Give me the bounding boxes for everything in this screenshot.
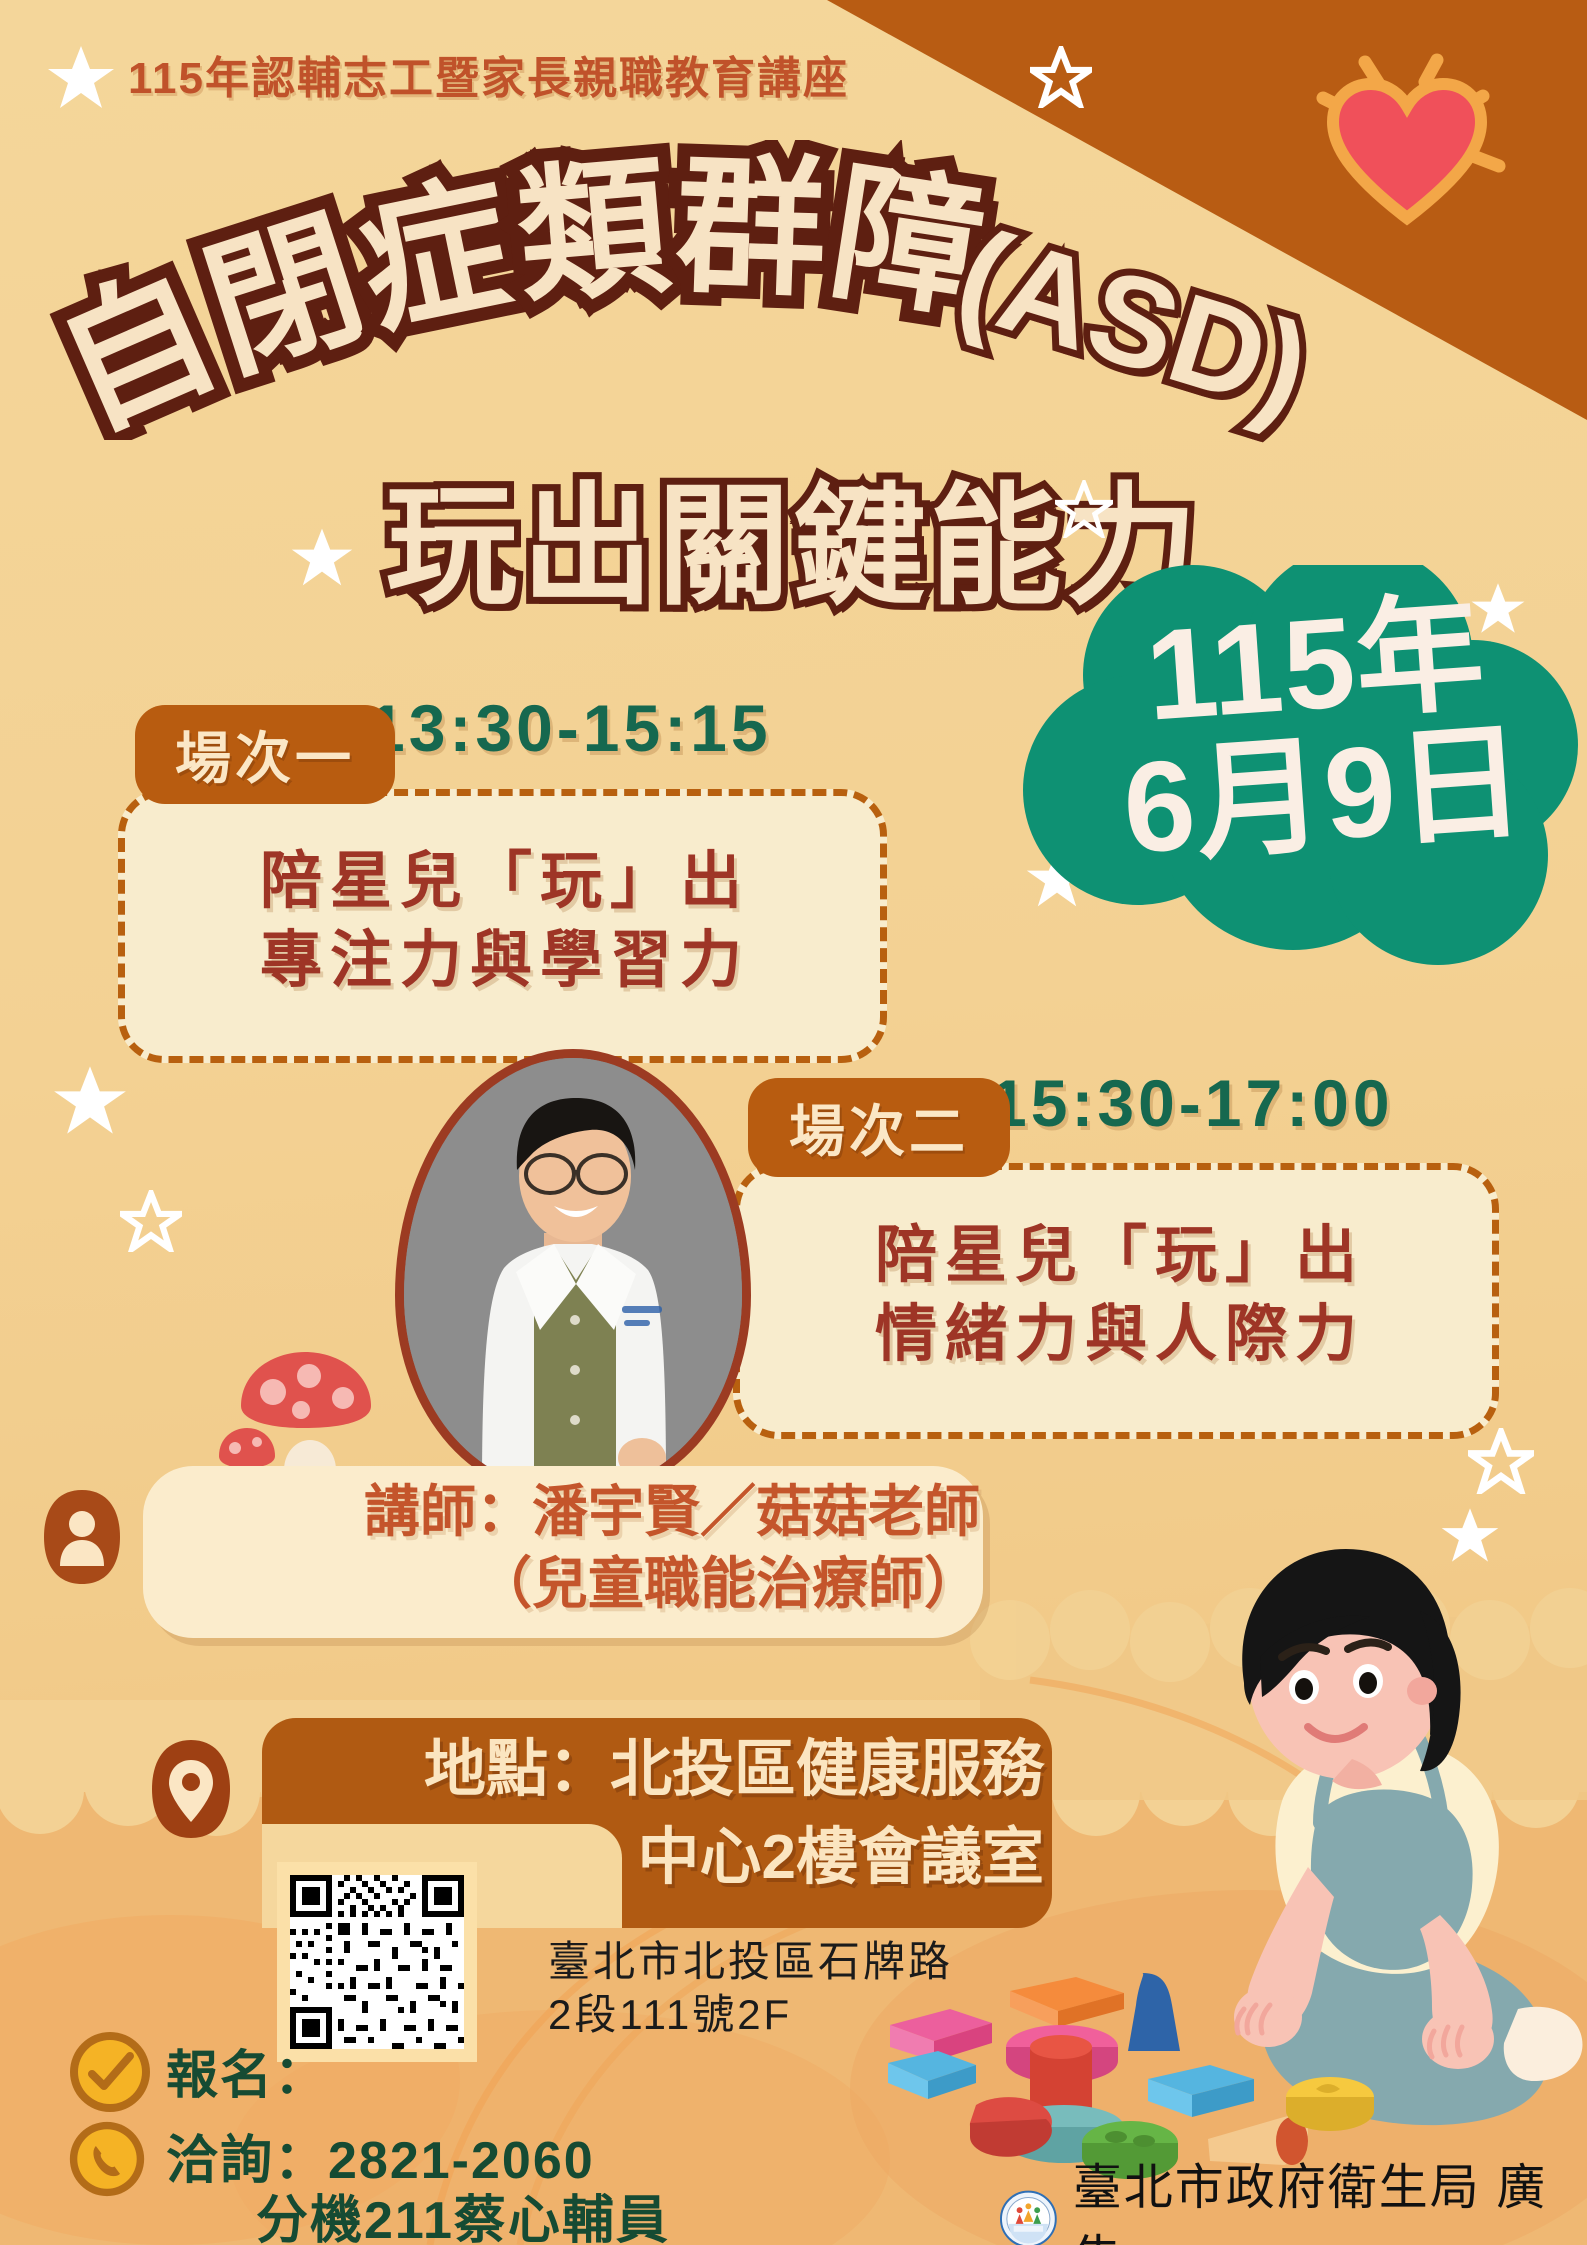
star-icon [1030, 46, 1092, 108]
phone-icon [68, 2120, 146, 2198]
map-pin-icon [150, 1738, 232, 1840]
star-icon [52, 1062, 128, 1138]
speaker-name-line: 講師：潘宇賢／菇菇老師 [160, 1476, 980, 1548]
check-circle-icon [68, 2030, 152, 2114]
session-2-title-line2: 情緒力與人際力 [790, 1295, 1450, 1374]
main-title-line1: 自閉症類群障礙 [0, 140, 1587, 440]
star-icon [120, 1190, 182, 1252]
session-1-title: 陪星兒「玩」出 專注力與學習力 [175, 842, 835, 1001]
event-subtitle: 115年認輔志工暨家長親職教育講座 [128, 42, 849, 106]
date-badge: 115年 6月9日 [1052, 582, 1587, 879]
session-1-title-line2: 專注力與學習力 [175, 921, 835, 1000]
session-2-title: 陪星兒「玩」出 情緒力與人際力 [790, 1216, 1450, 1375]
star-icon [1055, 480, 1113, 538]
location-line1: 地點：北投區健康服務 [272, 1726, 1044, 1814]
session-1-badge: 場次一 [135, 705, 395, 804]
registration-label: 報名： [166, 2033, 328, 2108]
session-2-time: 15:30-17:00 [990, 1065, 1394, 1141]
svg-text:自閉症類群障礙: 自閉症類群障礙 [0, 140, 997, 440]
session-1-time: 13:30-15:15 [368, 690, 772, 766]
session-2-badge: 場次二 [748, 1078, 1010, 1177]
location-line2: 中心2樓會議室 [272, 1814, 1044, 1902]
person-icon [42, 1488, 122, 1586]
speaker-title-line: （兒童職能治療師） [160, 1548, 980, 1620]
poster-canvas: 115年認輔志工暨家長親職教育講座 自閉症類群障礙 (ASD) 玩出關鍵能力 [0, 0, 1587, 2245]
star-icon [46, 42, 116, 112]
taipei-health-department-logo [1000, 2190, 1057, 2245]
star-icon [290, 525, 354, 589]
session-2-title-line1: 陪星兒「玩」出 [790, 1216, 1450, 1295]
footer-text: 臺北市政府衛生局 廣告 [1073, 2148, 1587, 2245]
footer: 臺北市政府衛生局 廣告 [1000, 2148, 1587, 2245]
title-arched-text: 自閉症類群障礙 [0, 140, 997, 440]
star-icon [1468, 1428, 1534, 1494]
contact-ext-line: 分機211蔡心輔員 [256, 2178, 670, 2245]
session-1-title-line1: 陪星兒「玩」出 [175, 842, 835, 921]
speaker-info: 講師：潘宇賢／菇菇老師 （兒童職能治療師） [160, 1476, 1006, 1619]
location-info: 地點：北投區健康服務 中心2樓會議室 [272, 1726, 1062, 1902]
